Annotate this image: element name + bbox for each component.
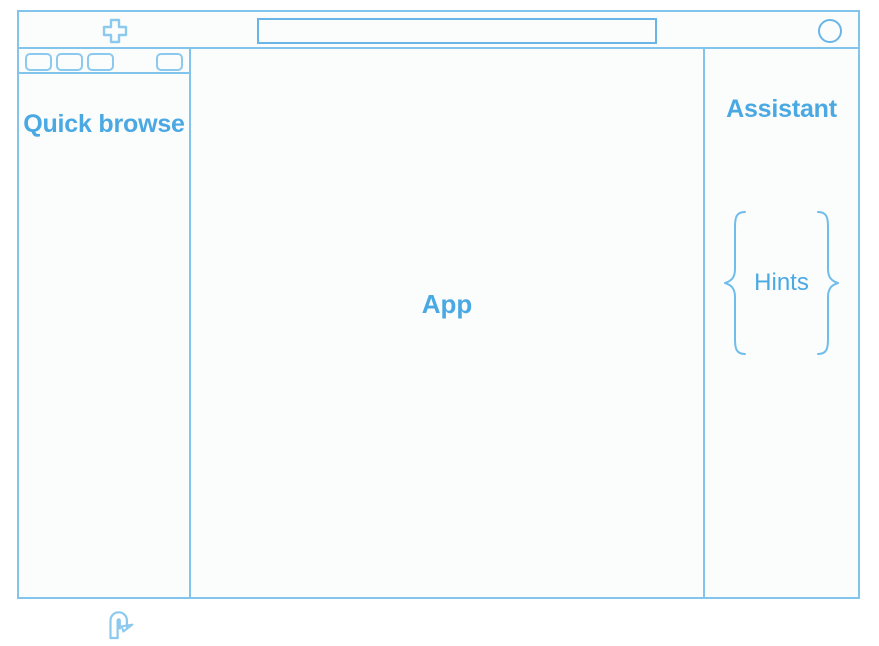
wireframe-canvas: Quick browse App Assistant [0,0,879,616]
tab-chip-3[interactable] [87,53,114,71]
window-body: Quick browse App Assistant [19,49,858,597]
right-curly-brace-icon [815,209,841,357]
tab-chip-2[interactable] [56,53,83,71]
sidebar-tab-strip [19,49,189,74]
assistant-title: Assistant [705,95,858,124]
browser-window: Quick browse App Assistant [17,10,860,599]
app-panel[interactable]: App [191,49,705,597]
sidebar-panel: Quick browse [19,49,191,597]
tab-chip-4[interactable] [156,53,183,71]
hints-group: Hints [717,209,846,357]
profile-circle-icon[interactable] [818,19,842,43]
assistant-panel: Assistant Hints [705,49,858,597]
plus-icon[interactable] [98,18,132,44]
tab-chip-1[interactable] [25,53,52,71]
left-curly-brace-icon [722,209,748,357]
undo-uturn-arrow-icon[interactable] [103,607,141,641]
address-bar[interactable] [257,18,657,44]
app-label: App [191,49,703,597]
hints-label: Hints [748,269,815,297]
sidebar-title: Quick browse [19,109,189,140]
browser-chrome-bar [19,12,858,49]
